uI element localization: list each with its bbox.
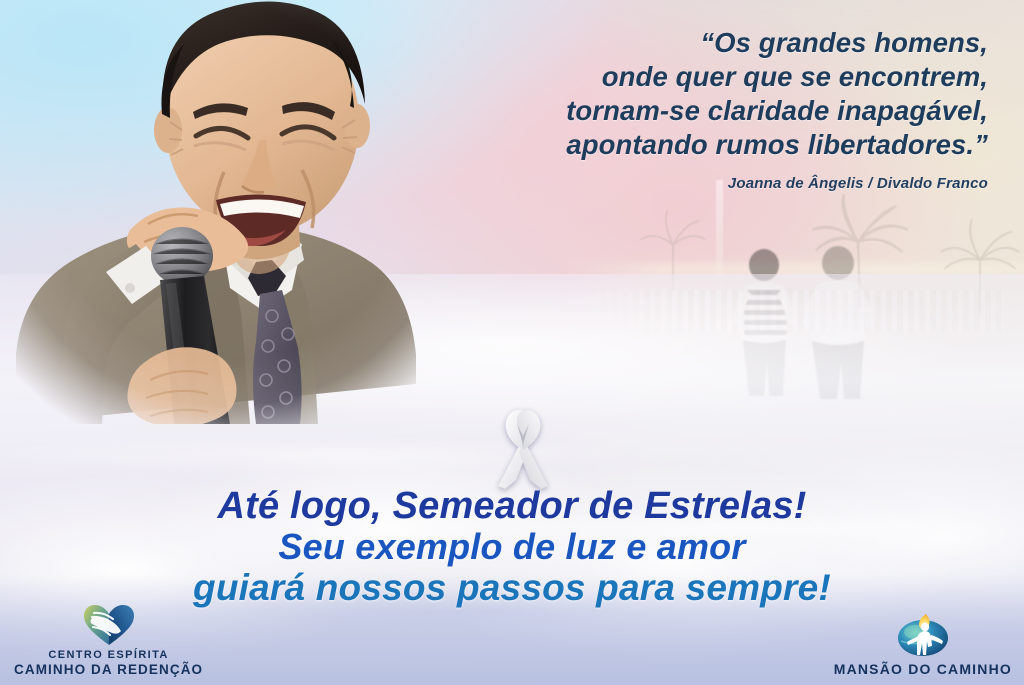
quote-block: “Os grandes homens, onde quer que se enc… <box>428 26 988 192</box>
globe-figure-flame-icon <box>897 611 949 657</box>
logo-right-text: MANSÃO DO CAMINHO <box>834 660 1012 677</box>
headline-line-2: Seu exemplo de luz e amor <box>0 527 1024 567</box>
quote-line-2: onde quer que se encontrem, <box>428 60 988 94</box>
palm-tree-icon <box>930 215 1024 315</box>
walking-figure-striped-shirt <box>725 248 803 398</box>
quote-line-4: apontando rumos libertadores.” <box>428 128 988 162</box>
mansao-do-caminho-logo: MANSÃO DO CAMINHO <box>834 611 1012 677</box>
memorial-ribbon-icon <box>489 406 557 490</box>
headline-line-1: Até logo, Semeador de Estrelas! <box>0 485 1024 527</box>
portrait-photo <box>10 0 480 424</box>
headline-line-3: guiará nossos passos para sempre! <box>0 567 1024 608</box>
logo-left-line-1: CENTRO ESPÍRITA <box>14 649 203 661</box>
headline-block: Até logo, Semeador de Estrelas! Seu exem… <box>0 485 1024 608</box>
walking-figure-white-shirt <box>795 245 881 400</box>
memorial-tribute-poster: “Os grandes homens, onde quer que se enc… <box>0 0 1024 685</box>
heart-hands-icon <box>83 604 135 646</box>
logo-left-line-2: CAMINHO DA REDENÇÃO <box>14 662 203 677</box>
centro-espirita-caminho-da-redencao-logo: CENTRO ESPÍRITA CAMINHO DA REDENÇÃO <box>14 604 203 677</box>
quote-attribution: Joanna de Ângelis / Divaldo Franco <box>428 175 988 192</box>
palm-tree-icon <box>630 205 716 291</box>
quote-line-3: tornam-se claridade inapagável, <box>428 94 988 128</box>
logo-right-line-2: MANSÃO DO CAMINHO <box>834 661 1012 677</box>
quote-line-1: “Os grandes homens, <box>428 26 988 60</box>
lamp-post <box>716 180 723 310</box>
logo-left-text: CENTRO ESPÍRITA CAMINHO DA REDENÇÃO <box>14 649 203 677</box>
